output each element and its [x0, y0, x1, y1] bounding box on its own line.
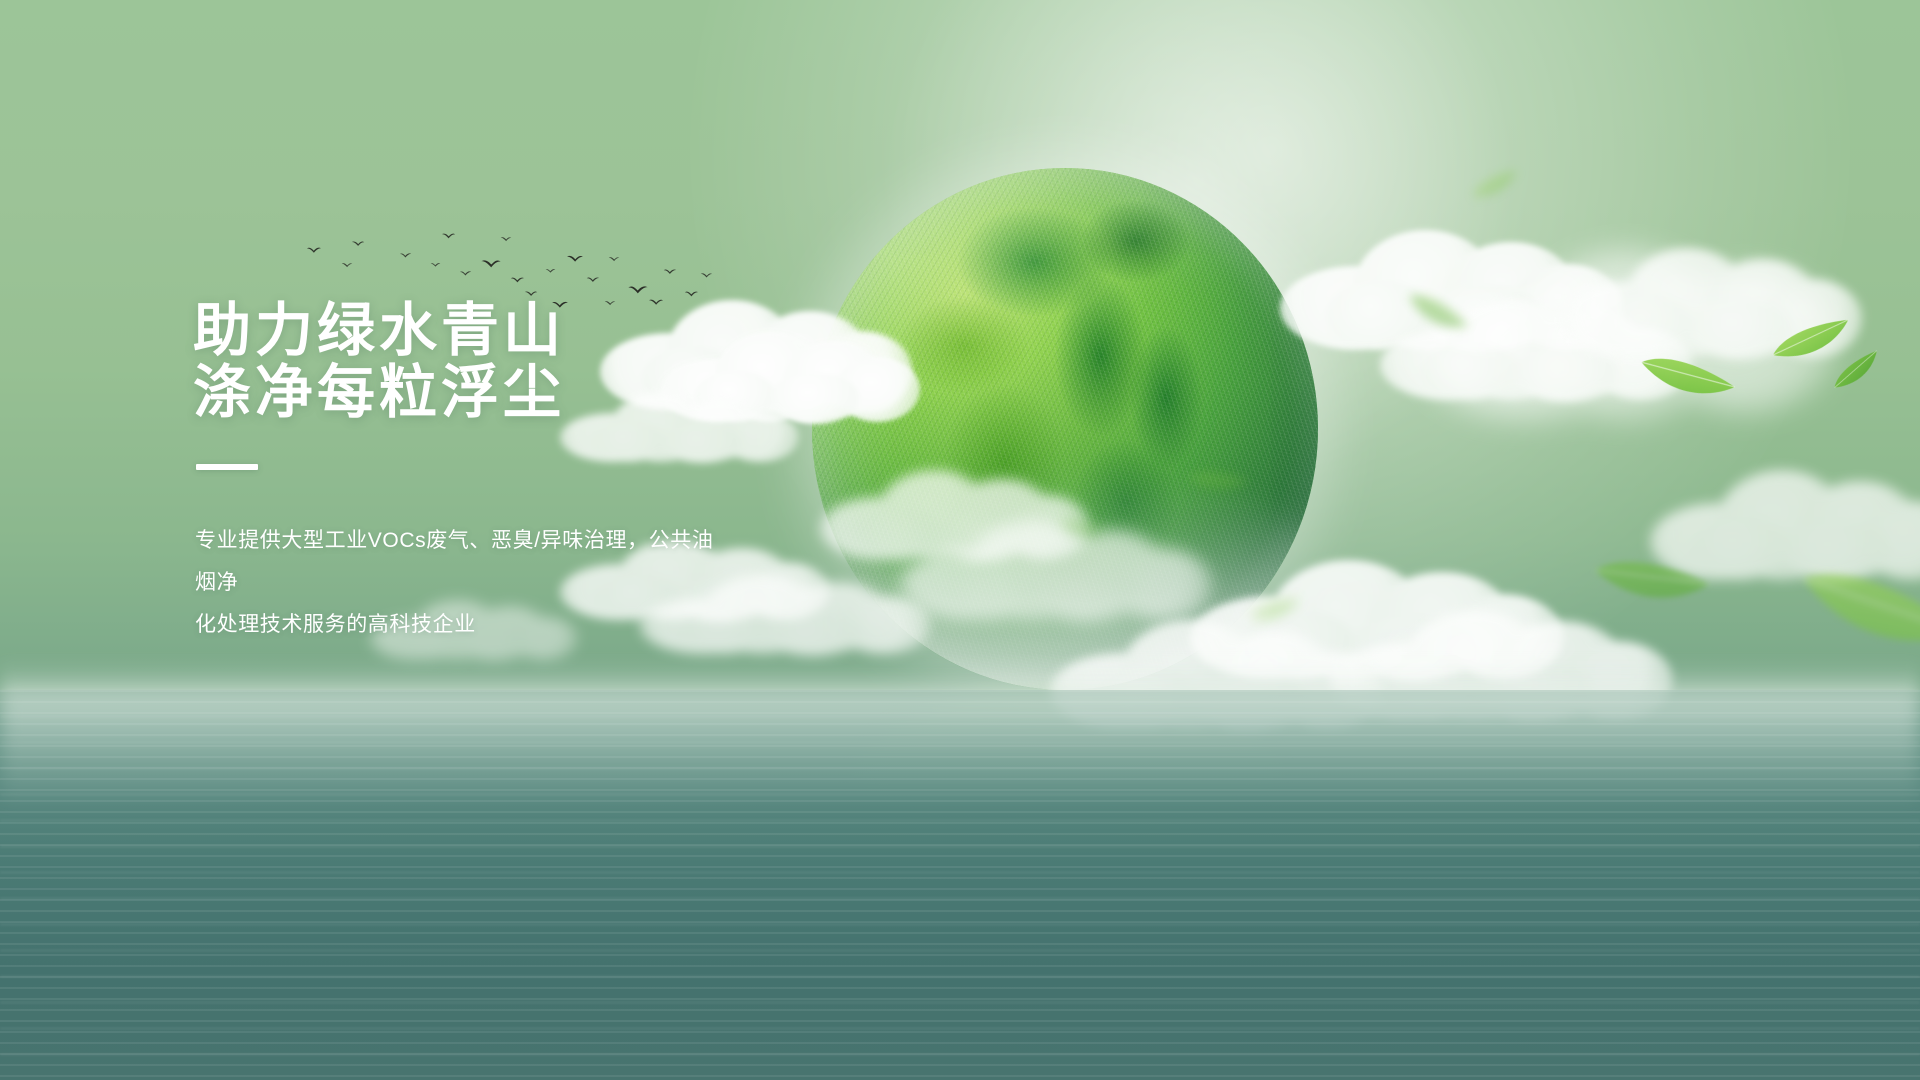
bird-icon [430, 262, 441, 268]
leaf-icon [1585, 546, 1714, 626]
headline-line-1: 助力绿水青山 [193, 300, 953, 362]
cloud [1650, 470, 1920, 580]
bird-icon [399, 252, 412, 259]
bird-icon [684, 290, 699, 298]
bird-icon [566, 254, 584, 264]
leaf-icon [1397, 283, 1473, 350]
cloud [1280, 230, 1610, 350]
leaf-icon [1467, 165, 1527, 211]
bird-icon [510, 276, 525, 284]
cloud [1560, 248, 1850, 358]
water-surface [0, 690, 1920, 1080]
bird-icon [524, 290, 538, 298]
title-divider [196, 464, 258, 470]
bird-icon [351, 240, 365, 248]
headline-line-2: 涤净每粒浮尘 [193, 362, 953, 424]
cloud [1380, 300, 1680, 400]
bird-icon [700, 272, 713, 279]
banner-subtitle: 专业提供大型工业VOCs废气、恶臭/异味治理，公共油烟净 化处理技术服务的高科技… [195, 520, 735, 646]
bird-icon [441, 232, 456, 240]
bird-icon [608, 256, 620, 263]
bird-icon [627, 284, 649, 296]
bird-icon [480, 258, 502, 270]
water-ripples-fine [0, 690, 1920, 1080]
subtitle-line-1: 专业提供大型工业VOCs废气、恶臭/异味治理，公共油烟净 [195, 520, 735, 604]
bird-icon [663, 268, 677, 276]
leaf-icon [1766, 313, 1860, 377]
bird-icon [341, 262, 353, 269]
banner-copy: 助力绿水青山 涤净每粒浮尘 专业提供大型工业VOCs废气、恶臭/异味治理，公共油… [193, 300, 953, 646]
bird-icon [500, 236, 512, 243]
bird-icon [306, 246, 322, 255]
bird-icon [586, 276, 600, 284]
bird-icon [545, 268, 556, 274]
banner-stage: 助力绿水青山 涤净每粒浮尘 专业提供大型工业VOCs废气、恶臭/异味治理，公共油… [0, 0, 1920, 1080]
leaf-icon [1630, 343, 1740, 422]
leaf-icon [1827, 346, 1891, 402]
page-title: 助力绿水青山 涤净每粒浮尘 [193, 300, 953, 424]
subtitle-line-2: 化处理技术服务的高科技企业 [195, 604, 735, 646]
bird-icon [459, 270, 472, 277]
leaf-icon [1782, 545, 1920, 689]
cloud-back-right [1420, 250, 1850, 420]
